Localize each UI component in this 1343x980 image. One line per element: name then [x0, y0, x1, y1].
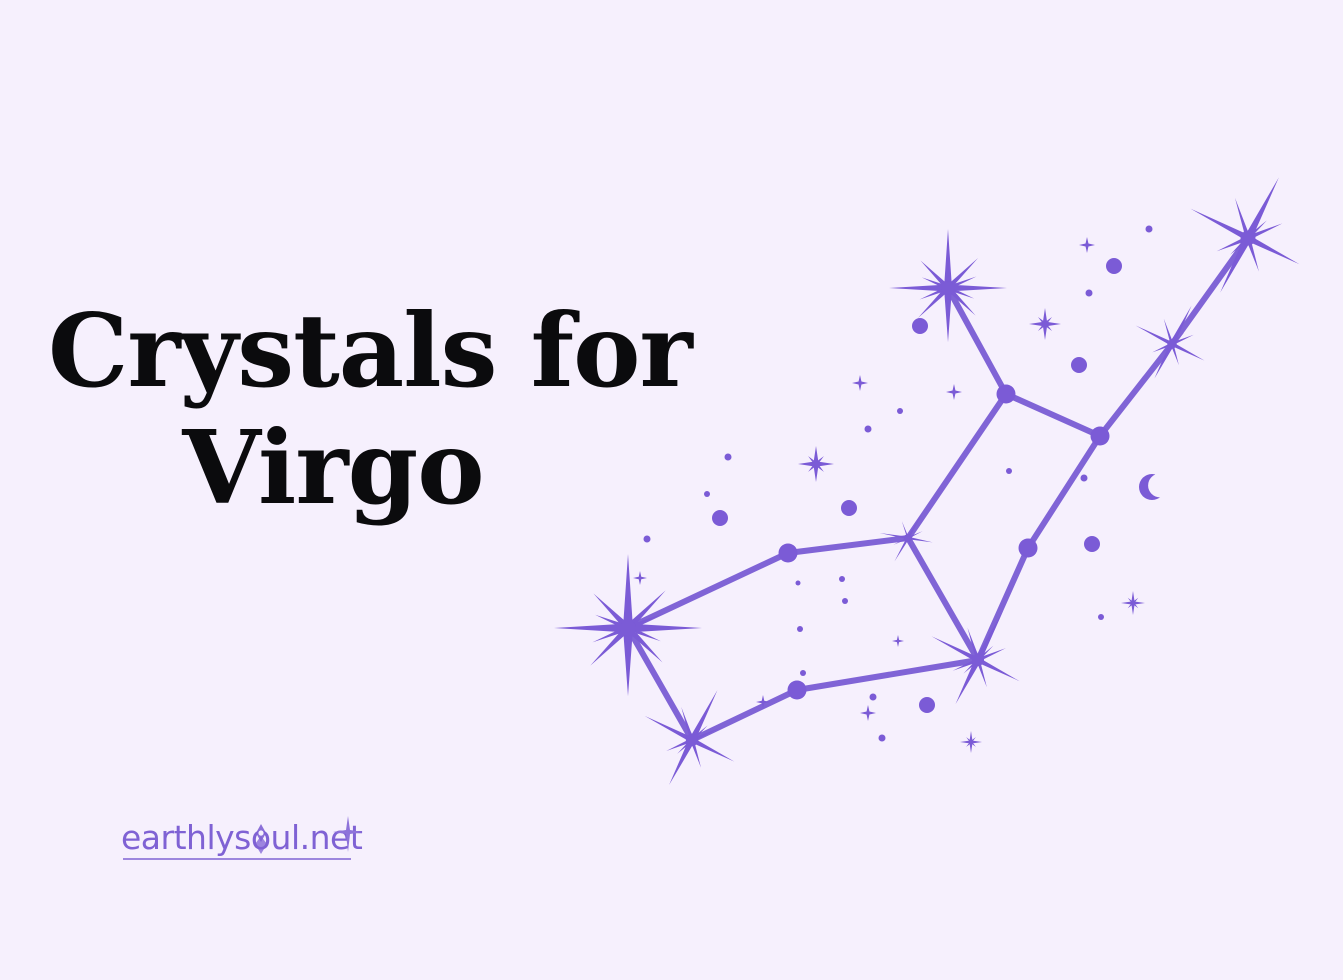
decor-dot: [712, 510, 728, 526]
decor-dot: [1098, 614, 1104, 620]
constellation-star-dot: [788, 681, 807, 700]
decor-dot: [725, 454, 732, 461]
crystal-flask-icon: [244, 820, 278, 860]
poster-canvas: Crystals for Virgo earthlysoul.net: [0, 0, 1343, 980]
decor-sparkle-small: [852, 375, 868, 391]
decor-dot: [865, 426, 872, 433]
title-line-1: Crystals for: [48, 292, 618, 409]
decor-sparkle: [798, 446, 834, 482]
constellation-star-dot: [997, 385, 1016, 404]
decor-dot: [1071, 357, 1087, 373]
constellation-line: [788, 538, 908, 553]
constellation-star-core: [686, 734, 698, 746]
constellation-star-core: [1167, 339, 1176, 348]
decor-sparkle-small: [860, 705, 876, 721]
decor-dot: [1081, 475, 1088, 482]
constellation-star-dot: [1019, 539, 1038, 558]
logo-text: earthlysoul.net: [121, 818, 362, 858]
constellation-star-core: [620, 620, 636, 636]
page-title: Crystals for Virgo: [48, 292, 618, 526]
constellation-star-dot: [1091, 427, 1110, 446]
decor-dot: [1086, 290, 1093, 297]
decor-dot: [870, 694, 877, 701]
title-line-2: Virgo: [48, 409, 618, 526]
constellation-line: [1006, 394, 1100, 436]
decor-dot: [897, 408, 903, 414]
decorative-dots: [644, 226, 1153, 742]
decor-dot: [704, 491, 710, 497]
constellation-star-core: [1241, 231, 1256, 246]
decor-sparkle-small: [633, 571, 647, 585]
constellation-star-dot: [779, 544, 798, 563]
site-logo[interactable]: earthlysoul.net: [121, 818, 371, 870]
decor-dot: [879, 735, 886, 742]
decor-dot: [797, 626, 803, 632]
decor-dot: [919, 697, 935, 713]
decor-dot: [839, 576, 845, 582]
constellation-star-core: [972, 654, 984, 666]
constellation-line: [797, 660, 978, 690]
decor-sparkle-small: [892, 635, 904, 647]
decor-sparkle: [1029, 308, 1061, 340]
constellation-star-core: [942, 282, 955, 295]
constellation-line: [628, 553, 788, 628]
decor-dot: [1084, 536, 1100, 552]
decor-dot: [644, 536, 651, 543]
crescent-moon-icon: [1139, 474, 1165, 500]
decor-sparkle: [960, 731, 982, 753]
decor-dot: [1006, 468, 1012, 474]
decor-dot: [800, 670, 806, 676]
logo-underline: [123, 858, 351, 860]
constellation-line: [1028, 436, 1100, 548]
decor-sparkle: [1121, 591, 1145, 615]
decor-dot: [796, 581, 801, 586]
constellation-line: [1172, 238, 1248, 344]
crescent-moon-shape: [1139, 474, 1165, 500]
decor-dot: [1146, 226, 1153, 233]
decor-dot: [841, 500, 857, 516]
decor-dot: [842, 598, 848, 604]
decor-sparkle-small: [946, 384, 962, 400]
decor-sparkle-small: [1079, 237, 1095, 253]
constellation-line: [908, 394, 1006, 538]
constellation-line: [948, 288, 1006, 394]
constellation-star-core: [904, 534, 912, 542]
sparkle-cross-icon: [333, 816, 363, 852]
decor-dot: [1106, 258, 1122, 274]
constellation-line: [1100, 344, 1172, 436]
decor-dot: [912, 318, 928, 334]
